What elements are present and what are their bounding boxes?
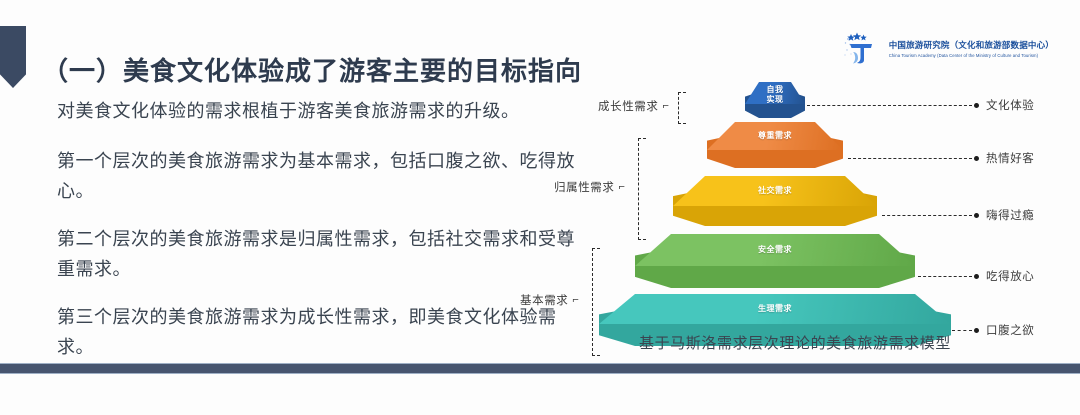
need-group-tick-icon: ⌐: [663, 100, 669, 112]
callout-dot-icon: [974, 274, 979, 279]
need-group-label: 成长性需求: [598, 98, 659, 114]
need-group-3: 基本需求⌐: [520, 292, 581, 308]
callout-label: 文化体验: [986, 97, 1034, 113]
organization-logo: 中国旅游研究院（文化和旅游部数据中心） China Tourism Academ…: [842, 30, 1054, 66]
pyramid-level-1-face: [599, 294, 951, 324]
need-group-tick-icon: ⌐: [619, 181, 625, 193]
callout-3: 嗨得过瘾: [882, 207, 1034, 223]
pyramid-level-2: 安全需求: [635, 234, 915, 288]
logo-name-en: China Tourism Academy (Data Center of th…: [889, 53, 1054, 58]
callout-dot-icon: [974, 103, 979, 108]
pyramid-level-5: 自我实现: [745, 82, 805, 118]
callout-leader-line: [848, 158, 972, 159]
logo-mark-icon: [842, 30, 882, 66]
need-group-bracket: [638, 138, 646, 240]
left-banner-decoration: [0, 26, 26, 88]
callout-leader-line: [952, 330, 972, 331]
callout-label: 热情好客: [986, 150, 1034, 166]
callout-label: 吃得放心: [986, 268, 1034, 284]
callout-label: 嗨得过瘾: [986, 207, 1034, 223]
paragraph-2: 第一个层次的美食旅游需求为基本需求，包括口腹之欲、吃得放心。: [57, 146, 577, 206]
bottom-rule-decoration: [0, 363, 1080, 374]
pyramid-level-4: 尊重需求: [707, 122, 843, 168]
need-group-2: 归属性需求⌐: [554, 179, 627, 195]
need-group-label: 归属性需求: [554, 179, 615, 195]
pyramid-level-2-face: [635, 234, 915, 266]
pyramid-level-3-face: [673, 176, 877, 206]
need-group-1: 成长性需求⌐: [598, 98, 671, 114]
callout-4: 热情好客: [848, 150, 1034, 166]
paragraph-1: 对美食文化体验的需求根植于游客美食旅游需求的升级。: [57, 96, 577, 126]
callout-2: 吃得放心: [918, 268, 1034, 284]
body-copy: 对美食文化体验的需求根植于游客美食旅游需求的升级。 第一个层次的美食旅游需求为基…: [57, 96, 577, 380]
pyramid-level-3: 社交需求: [673, 176, 877, 226]
pyramid-level-5-face: [745, 82, 805, 104]
callout-5: 文化体验: [807, 97, 1034, 113]
slide-canvas: （一）美食文化体验成了游客主要的目标指向 对美食文化体验的需求根植于游客美食旅游…: [0, 0, 1080, 415]
page-title: （一）美食文化体验成了游客主要的目标指向: [42, 55, 582, 89]
logo-name-cn: 中国旅游研究院（文化和旅游部数据中心）: [889, 39, 1054, 51]
pyramid-level-4-face: [707, 122, 843, 150]
paragraph-4: 第三个层次的美食旅游需求为成长性需求，即美食文化体验需求。: [57, 302, 577, 362]
callout-leader-line: [918, 276, 972, 277]
callout-dot-icon: [974, 213, 979, 218]
need-group-label: 基本需求: [520, 292, 568, 308]
need-group-bracket: [678, 92, 686, 124]
maslow-pyramid-diagram: 自我实现尊重需求社交需求安全需求生理需求文化体验热情好客嗨得过瘾吃得放心口腹之欲…: [560, 80, 1060, 365]
diagram-caption: 基于马斯洛需求层次理论的美食旅游需求模型: [560, 332, 1030, 353]
callout-leader-line: [882, 215, 972, 216]
callout-dot-icon: [974, 156, 979, 161]
paragraph-3: 第二个层次的美食旅游需求是归属性需求，包括社交需求和受尊重需求。: [57, 224, 577, 284]
logo-text: 中国旅游研究院（文化和旅游部数据中心） China Tourism Academ…: [889, 39, 1054, 58]
need-group-tick-icon: ⌐: [572, 294, 578, 306]
callout-leader-line: [807, 105, 972, 106]
